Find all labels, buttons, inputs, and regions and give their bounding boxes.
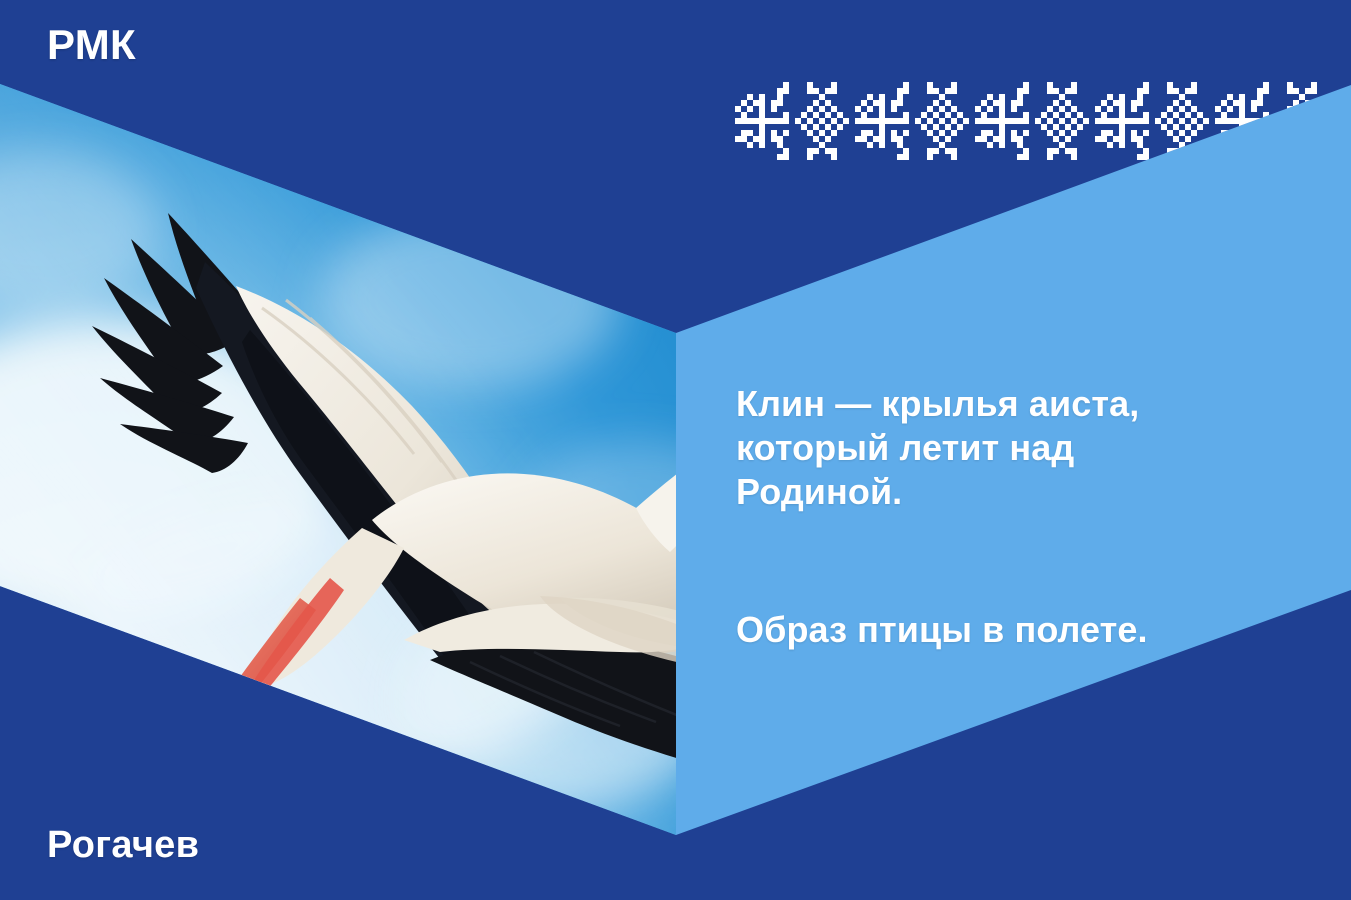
concept-copy-block: Клин — крылья аиста, который летит над Р… xyxy=(736,382,1236,652)
stork-body xyxy=(372,473,748,654)
stork-body-shadow xyxy=(540,596,750,669)
stork-upper-wing-coverts-dark xyxy=(196,262,516,667)
stork-legs xyxy=(212,598,316,726)
stork-beak-line xyxy=(902,338,1028,384)
brand-wordmark: РМК xyxy=(47,24,136,66)
stork-lower-wing-texture xyxy=(470,652,684,726)
poster-canvas: РМК Рогачев Клин — крылья аиста, который… xyxy=(0,0,1351,900)
stork-lower-wing-primaries xyxy=(792,706,928,900)
stork-tail xyxy=(256,528,404,688)
stork-upper-wing-primaries xyxy=(92,213,262,473)
stork-lower-wing-dark xyxy=(430,639,876,785)
concept-statement-secondary: Образ птицы в полете. xyxy=(736,608,1236,652)
city-wordmark: Рогачев xyxy=(47,826,199,864)
stork-lower-wing-white-edge xyxy=(404,604,718,653)
stork-upper-wing-feather-lines xyxy=(262,300,456,480)
stork-upper-wing-shadow xyxy=(242,330,508,676)
stork-upper-wing-white xyxy=(236,286,540,642)
stork-leg-second xyxy=(250,578,344,697)
concept-statement-primary: Клин — крылья аиста, который летит над Р… xyxy=(736,382,1236,514)
